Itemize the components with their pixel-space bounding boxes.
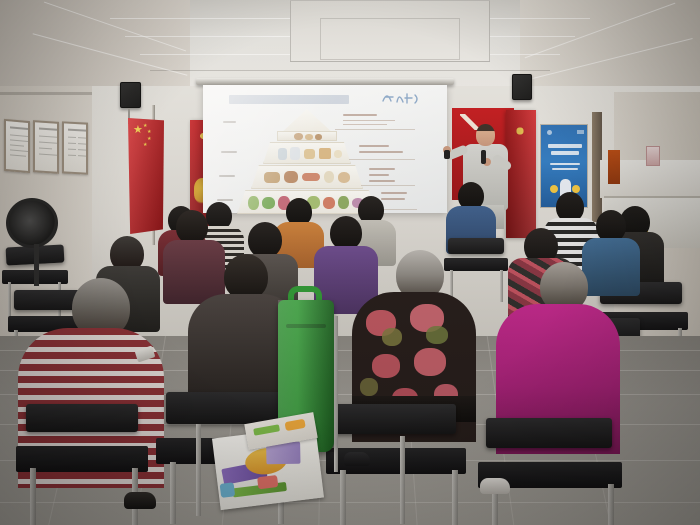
pyramid-tier-2: [263, 142, 351, 164]
wall-trim-left: [0, 92, 92, 95]
wall-speaker-left: [120, 82, 141, 108]
tier-annotation-1-sub: [343, 120, 395, 121]
shoe: [124, 492, 156, 509]
chair-back: [14, 290, 80, 310]
tier-annotation-4b: [381, 198, 405, 200]
shoe: [480, 478, 510, 494]
chair-leg: [608, 484, 614, 525]
audience-head: [330, 216, 362, 250]
tier-label-2: [221, 151, 237, 153]
fan-stem: [34, 244, 39, 286]
tier-annotation-1-sub2: [343, 124, 387, 125]
chair-leg: [500, 270, 503, 302]
trolley-rod: [334, 316, 338, 472]
certificate-frame-2: [33, 120, 59, 174]
chair-back: [26, 404, 138, 432]
tier-annotation-2b: [359, 151, 403, 153]
chair-back: [334, 404, 456, 434]
chair-leg: [30, 468, 36, 525]
projection-screen-rail: [196, 78, 454, 85]
tier-label-3: [219, 175, 235, 177]
red-banner-right: [506, 110, 536, 238]
chinese-national-flag: ★ ★ ★ ★ ★: [128, 118, 164, 234]
audience-head: [248, 222, 282, 258]
back-wall-sign: [608, 150, 620, 184]
chair-leg: [170, 462, 176, 524]
back-wall-notice: [646, 146, 660, 166]
chair-leg: [8, 282, 11, 316]
chair-back: [486, 418, 612, 448]
pyramid-tier-3: [251, 165, 363, 189]
tier-label-4: [217, 199, 233, 201]
chair-leg: [452, 470, 458, 525]
pedestal-fan[interactable]: [6, 198, 58, 248]
tier-annotation-3b: [369, 174, 389, 176]
chair-leg: [196, 424, 201, 516]
ceiling-left-slope: [0, 0, 190, 96]
photo-scene: ★ ★ ★ ★ ★ 糖尿病患者饮食金字塔 蓝色行动: [0, 0, 700, 525]
chair-seat: [444, 258, 508, 271]
notice-board: [62, 121, 88, 174]
chair-leg: [340, 470, 346, 525]
slide-title: [229, 95, 349, 104]
ceiling-light-panel-inner: [320, 18, 460, 60]
tier-annotation-1: [343, 114, 377, 116]
presentation-clicker: [444, 150, 450, 159]
chair-leg: [400, 436, 405, 524]
tier-annotation-2: [359, 145, 389, 147]
ceiling-seam: [150, 70, 550, 71]
tier-label-1: [223, 121, 236, 123]
wall-speaker-right: [512, 74, 532, 100]
projection-screen: 糖尿病患者饮食金字塔 蓝色行动: [203, 85, 447, 213]
tier-annotation-4: [381, 192, 407, 194]
audience-head: [176, 210, 208, 244]
shoe: [344, 452, 370, 466]
presenter-head: [476, 124, 495, 146]
leader-line-2: [349, 159, 415, 160]
microphone: [481, 150, 486, 164]
slide-logo: [379, 89, 423, 107]
chair-back: [448, 238, 504, 254]
pyramid-tier-1-base: [277, 131, 337, 141]
certificate-frame-1: [4, 119, 30, 173]
leader-line-1: [335, 129, 415, 130]
audience-torso: [582, 238, 640, 296]
tier-annotation-3: [369, 168, 395, 170]
tier-annotation-3c: [369, 180, 395, 182]
leader-line-3: [361, 185, 415, 186]
chair-back: [166, 392, 284, 424]
